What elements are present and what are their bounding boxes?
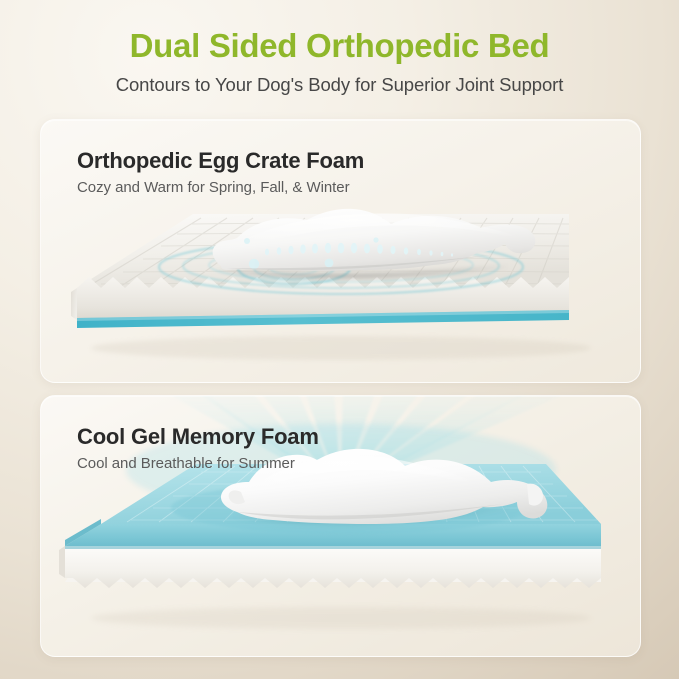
card-subtitle-egg-crate: Cozy and Warm for Spring, Fall, & Winter <box>77 179 364 197</box>
page-subtitle: Contours to Your Dog's Body for Superior… <box>0 74 679 96</box>
card-title-cool-gel: Cool Gel Memory Foam <box>77 424 319 449</box>
mattress-ground-shadow <box>91 336 591 360</box>
foam-left-face <box>71 288 77 320</box>
feature-card-egg-crate-foam: Orthopedic Egg Crate Foam Cozy and Warm … <box>40 119 641 383</box>
page-title: Dual Sided Orthopedic Bed <box>0 26 679 66</box>
product-infographic: Dual Sided Orthopedic Bed Contours to Yo… <box>0 0 679 679</box>
card-header-egg-crate: Orthopedic Egg Crate Foam Cozy and Warm … <box>77 148 364 197</box>
mattress-ground-shadow <box>91 607 591 629</box>
base-foam-left-face <box>59 546 65 578</box>
card-title-egg-crate: Orthopedic Egg Crate Foam <box>77 148 364 173</box>
feature-card-cool-gel-memory-foam: Cool Gel Memory Foam Cool and Breathable… <box>40 395 641 657</box>
gel-bottom-edge-line <box>65 546 601 549</box>
card-subtitle-cool-gel: Cool and Breathable for Summer <box>77 455 319 473</box>
card-header-cool-gel: Cool Gel Memory Foam Cool and Breathable… <box>77 424 319 473</box>
header: Dual Sided Orthopedic Bed Contours to Yo… <box>0 26 679 96</box>
